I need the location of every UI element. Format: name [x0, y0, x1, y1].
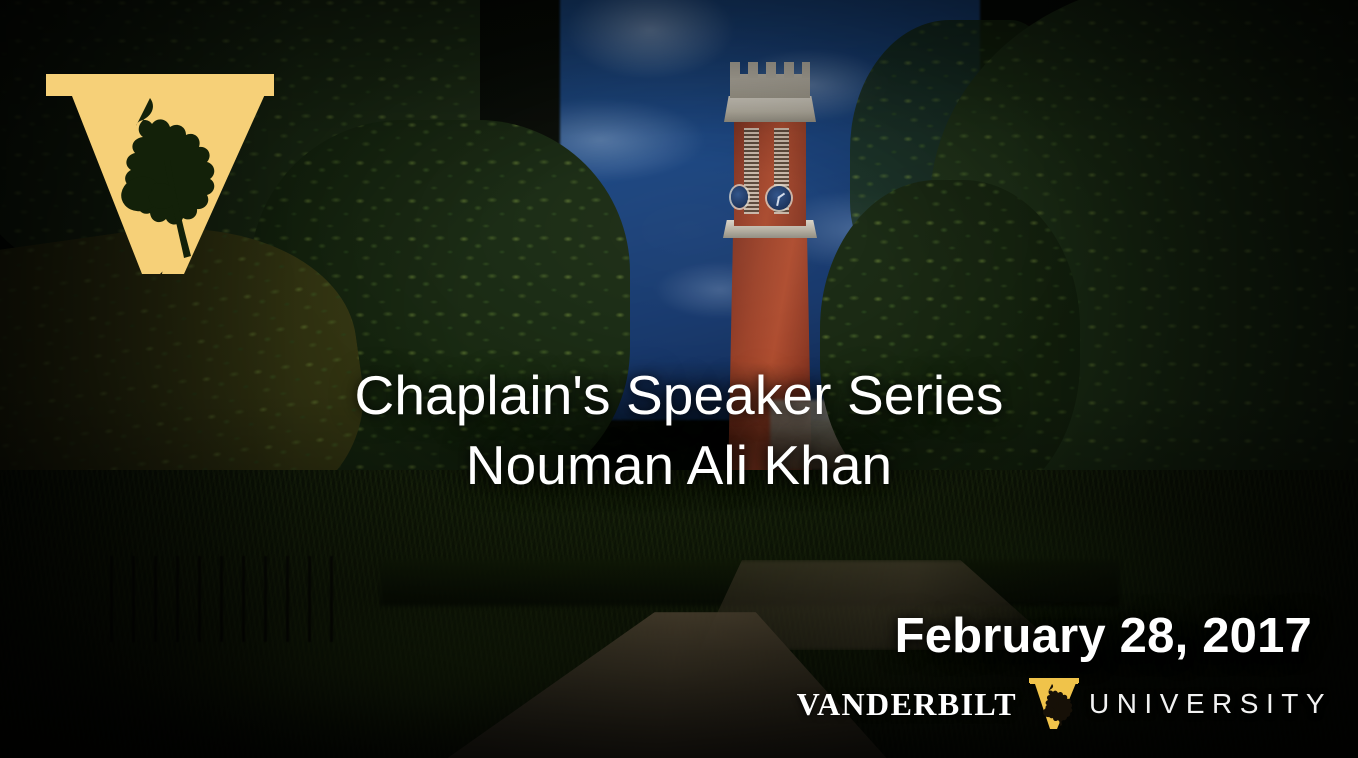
right-deep-foliage — [1080, 0, 1358, 670]
tower-belfry — [734, 118, 806, 226]
title-line-2: Nouman Ali Khan — [0, 430, 1358, 500]
belfry-louver-right — [774, 128, 789, 214]
tower-cornice — [724, 96, 816, 122]
vanderbilt-v-logo-icon — [1029, 678, 1079, 730]
tower-crenellations — [730, 62, 810, 78]
title-card-slide: Chaplain's Speaker Series Nouman Ali Kha… — [0, 0, 1358, 758]
belfry-louver-left — [744, 128, 759, 214]
clock-hour-hand — [777, 193, 785, 199]
clock-minute-hand — [776, 197, 780, 206]
tower-stone-band — [723, 220, 817, 238]
sky-region — [560, 0, 980, 420]
hedge-row — [380, 560, 1120, 606]
vanderbilt-oak-leaf-v-logo-icon — [46, 74, 274, 276]
clock-face-right — [767, 186, 791, 210]
tower-crown — [730, 74, 810, 98]
title-block: Chaplain's Speaker Series Nouman Ali Kha… — [0, 360, 1358, 501]
clock-face-left — [731, 186, 748, 208]
event-date: February 28, 2017 — [895, 608, 1312, 664]
vanderbilt-university-lockup: VANDERBILT UNIVERSITY — [797, 678, 1332, 730]
branch-cluster — [850, 20, 1050, 280]
iron-fence — [110, 556, 340, 642]
title-line-1: Chaplain's Speaker Series — [0, 360, 1358, 430]
university-wordmark: UNIVERSITY — [1089, 690, 1332, 718]
distant-brick-building — [420, 500, 600, 560]
vanderbilt-wordmark: VANDERBILT — [797, 688, 1017, 720]
